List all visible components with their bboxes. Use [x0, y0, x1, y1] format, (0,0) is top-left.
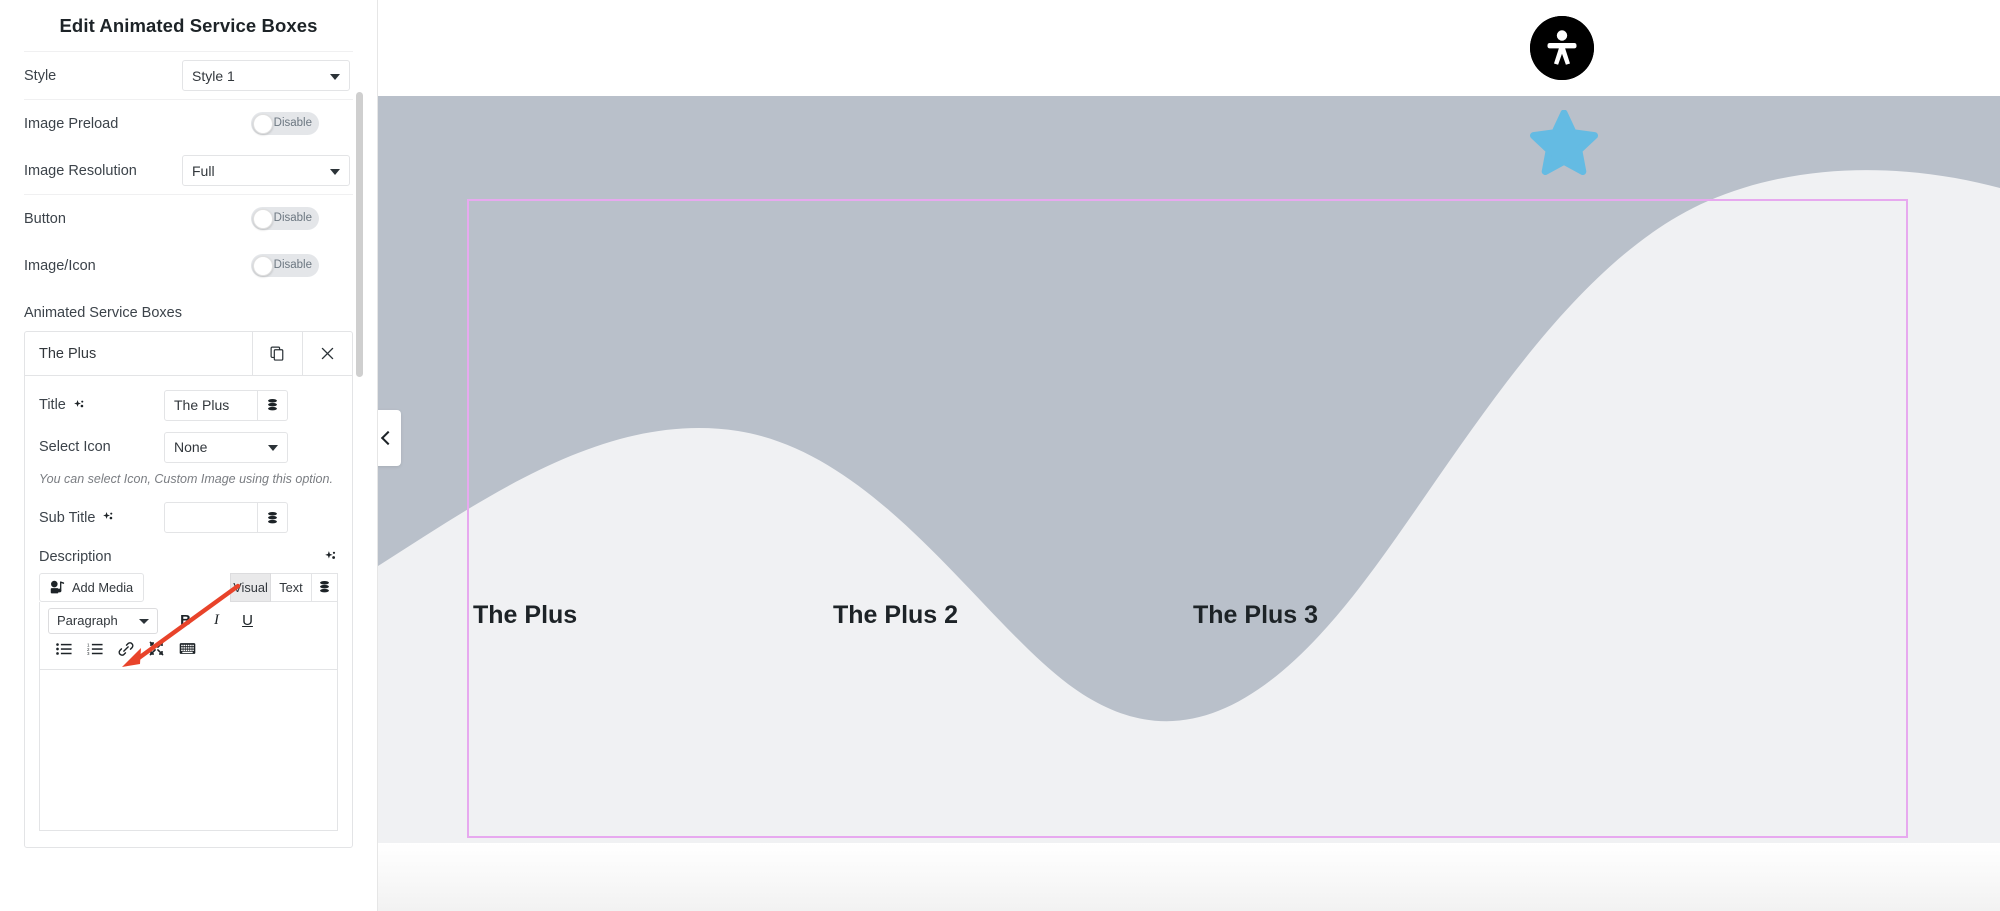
copy-icon: [270, 346, 285, 361]
field-label-image-resolution: Image Resolution: [24, 163, 182, 179]
field-row-image-resolution: Image Resolution Full: [24, 147, 353, 194]
fullscreen-button[interactable]: [141, 636, 172, 662]
title-input[interactable]: The Plus: [164, 390, 258, 421]
field-row-button: Button Disable: [24, 194, 353, 242]
preview-area: The Plus The Plus 2 The Plus 3: [378, 0, 2000, 911]
field-row-title: Title The Plus: [39, 384, 338, 426]
field-row-image-preload: Image Preload Disable: [24, 99, 353, 147]
repeater-item-title: The Plus: [25, 332, 252, 375]
chevron-down-icon: [330, 169, 340, 175]
fullscreen-icon: [149, 641, 164, 656]
database-icon: [266, 398, 279, 412]
animated-service-boxes-label: Animated Service Boxes: [24, 289, 353, 331]
link-icon: [118, 641, 134, 657]
description-header: Description: [39, 539, 338, 573]
bold-button[interactable]: B: [170, 608, 201, 634]
app-root: Edit Animated Service Boxes Style Style …: [0, 0, 2000, 911]
field-label-title-text: Title: [39, 397, 66, 413]
collapse-panel-button[interactable]: [378, 410, 401, 466]
duplicate-button[interactable]: [252, 332, 302, 375]
ai-sparkle-icon[interactable]: [73, 399, 86, 412]
select-icon-select[interactable]: None: [164, 432, 288, 463]
editor-toolbar-row-2: 1 2 3: [40, 634, 337, 669]
sub-title-dynamic-button[interactable]: [258, 502, 288, 533]
chevron-down-icon: [268, 445, 278, 451]
field-label-style: Style: [24, 68, 182, 84]
accessibility-button[interactable]: [1530, 16, 1594, 80]
field-label-description: Description: [39, 549, 112, 565]
sub-title-input[interactable]: [164, 502, 258, 533]
style-select[interactable]: Style 1: [182, 60, 350, 91]
database-icon: [266, 511, 279, 525]
title-dynamic-button[interactable]: [258, 390, 288, 421]
style-select-value: Style 1: [192, 68, 235, 84]
field-row-sub-title: Sub Title: [39, 497, 338, 539]
panel-body: Style Style 1 Image Preload Disable: [0, 51, 377, 911]
field-row-image-icon: Image/Icon Disable: [24, 242, 353, 289]
add-media-label: Add Media: [72, 580, 133, 595]
settings-panel: Edit Animated Service Boxes Style Style …: [0, 0, 378, 911]
database-icon: [318, 580, 331, 594]
field-label-button: Button: [24, 211, 182, 227]
keyboard-icon: [179, 642, 196, 655]
editor-toolbar-row-1: Paragraph B I U: [40, 602, 337, 634]
keyboard-shortcuts-button[interactable]: [172, 636, 203, 662]
description-dynamic-button[interactable]: [312, 573, 338, 602]
field-label-select-icon: Select Icon: [39, 439, 164, 455]
chevron-left-icon: [381, 431, 395, 445]
panel-scrollbar[interactable]: [356, 92, 363, 377]
field-label-sub-title: Sub Title: [39, 510, 164, 526]
field-row-style: Style Style 1: [24, 51, 353, 99]
service-box-title-3: The Plus 3: [1193, 601, 1318, 630]
remove-button[interactable]: [302, 332, 352, 375]
field-label-image-icon: Image/Icon: [24, 258, 182, 274]
chevron-down-icon: [139, 619, 149, 624]
unordered-list-button[interactable]: [48, 636, 79, 662]
tab-visual[interactable]: Visual: [230, 573, 271, 602]
media-icon: [50, 580, 65, 595]
image-icon-toggle-label: Disable: [274, 260, 312, 272]
chevron-down-icon: [330, 74, 340, 80]
page-title: Edit Animated Service Boxes: [59, 15, 317, 37]
italic-button[interactable]: I: [201, 608, 232, 634]
toggle-knob: [253, 256, 273, 276]
paragraph-format-value: Paragraph: [57, 613, 118, 628]
select-icon-helper-text: You can select Icon, Custom Image using …: [39, 468, 338, 497]
repeater-item: The Plus: [24, 331, 353, 848]
repeater-item-body: Title The Plus: [25, 376, 352, 847]
preview-stage: The Plus The Plus 2 The Plus 3: [378, 96, 2000, 843]
close-icon: [320, 346, 335, 361]
editor-content-area[interactable]: [40, 669, 337, 830]
tab-text[interactable]: Text: [271, 573, 312, 602]
image-icon-toggle[interactable]: Disable: [251, 254, 319, 277]
star-icon: [1530, 110, 1598, 176]
underline-button[interactable]: U: [232, 608, 263, 634]
link-button[interactable]: [110, 636, 141, 662]
editor-toolbar-top: Add Media Visual Text: [39, 573, 338, 602]
field-label-image-preload: Image Preload: [24, 116, 182, 132]
field-row-select-icon: Select Icon None: [39, 426, 338, 468]
image-preload-toggle[interactable]: Disable: [251, 112, 319, 135]
add-media-button[interactable]: Add Media: [39, 573, 144, 602]
button-toggle[interactable]: Disable: [251, 207, 319, 230]
toggle-knob: [253, 209, 273, 229]
editor-container: Paragraph B I U: [39, 602, 338, 831]
paragraph-format-select[interactable]: Paragraph: [48, 608, 158, 634]
preview-topbar: [378, 0, 2000, 96]
toggle-knob: [253, 114, 273, 134]
preview-bottom-section: [378, 843, 2000, 911]
svg-text:3: 3: [87, 651, 90, 656]
unordered-list-icon: [56, 642, 72, 656]
service-box-title-1: The Plus: [473, 601, 577, 630]
ai-sparkle-icon[interactable]: [102, 511, 115, 524]
image-preload-toggle-label: Disable: [274, 118, 312, 130]
field-label-title: Title: [39, 397, 164, 413]
service-box-title-2: The Plus 2: [833, 601, 958, 630]
wave-background-shape: [378, 96, 2000, 843]
image-resolution-select-value: Full: [192, 163, 215, 179]
title-input-value: The Plus: [174, 397, 229, 413]
field-label-sub-title-text: Sub Title: [39, 510, 95, 526]
ordered-list-icon: 1 2 3: [87, 642, 103, 656]
editor-mode-tabs: Visual Text: [230, 573, 338, 602]
accessibility-person-icon: [1530, 16, 1594, 80]
button-toggle-label: Disable: [274, 213, 312, 225]
panel-header: Edit Animated Service Boxes: [0, 0, 377, 51]
ordered-list-button[interactable]: 1 2 3: [79, 636, 110, 662]
image-resolution-select[interactable]: Full: [182, 155, 350, 186]
select-icon-value: None: [174, 439, 207, 455]
repeater-item-header[interactable]: The Plus: [25, 332, 352, 376]
ai-sparkle-icon[interactable]: [324, 550, 338, 564]
